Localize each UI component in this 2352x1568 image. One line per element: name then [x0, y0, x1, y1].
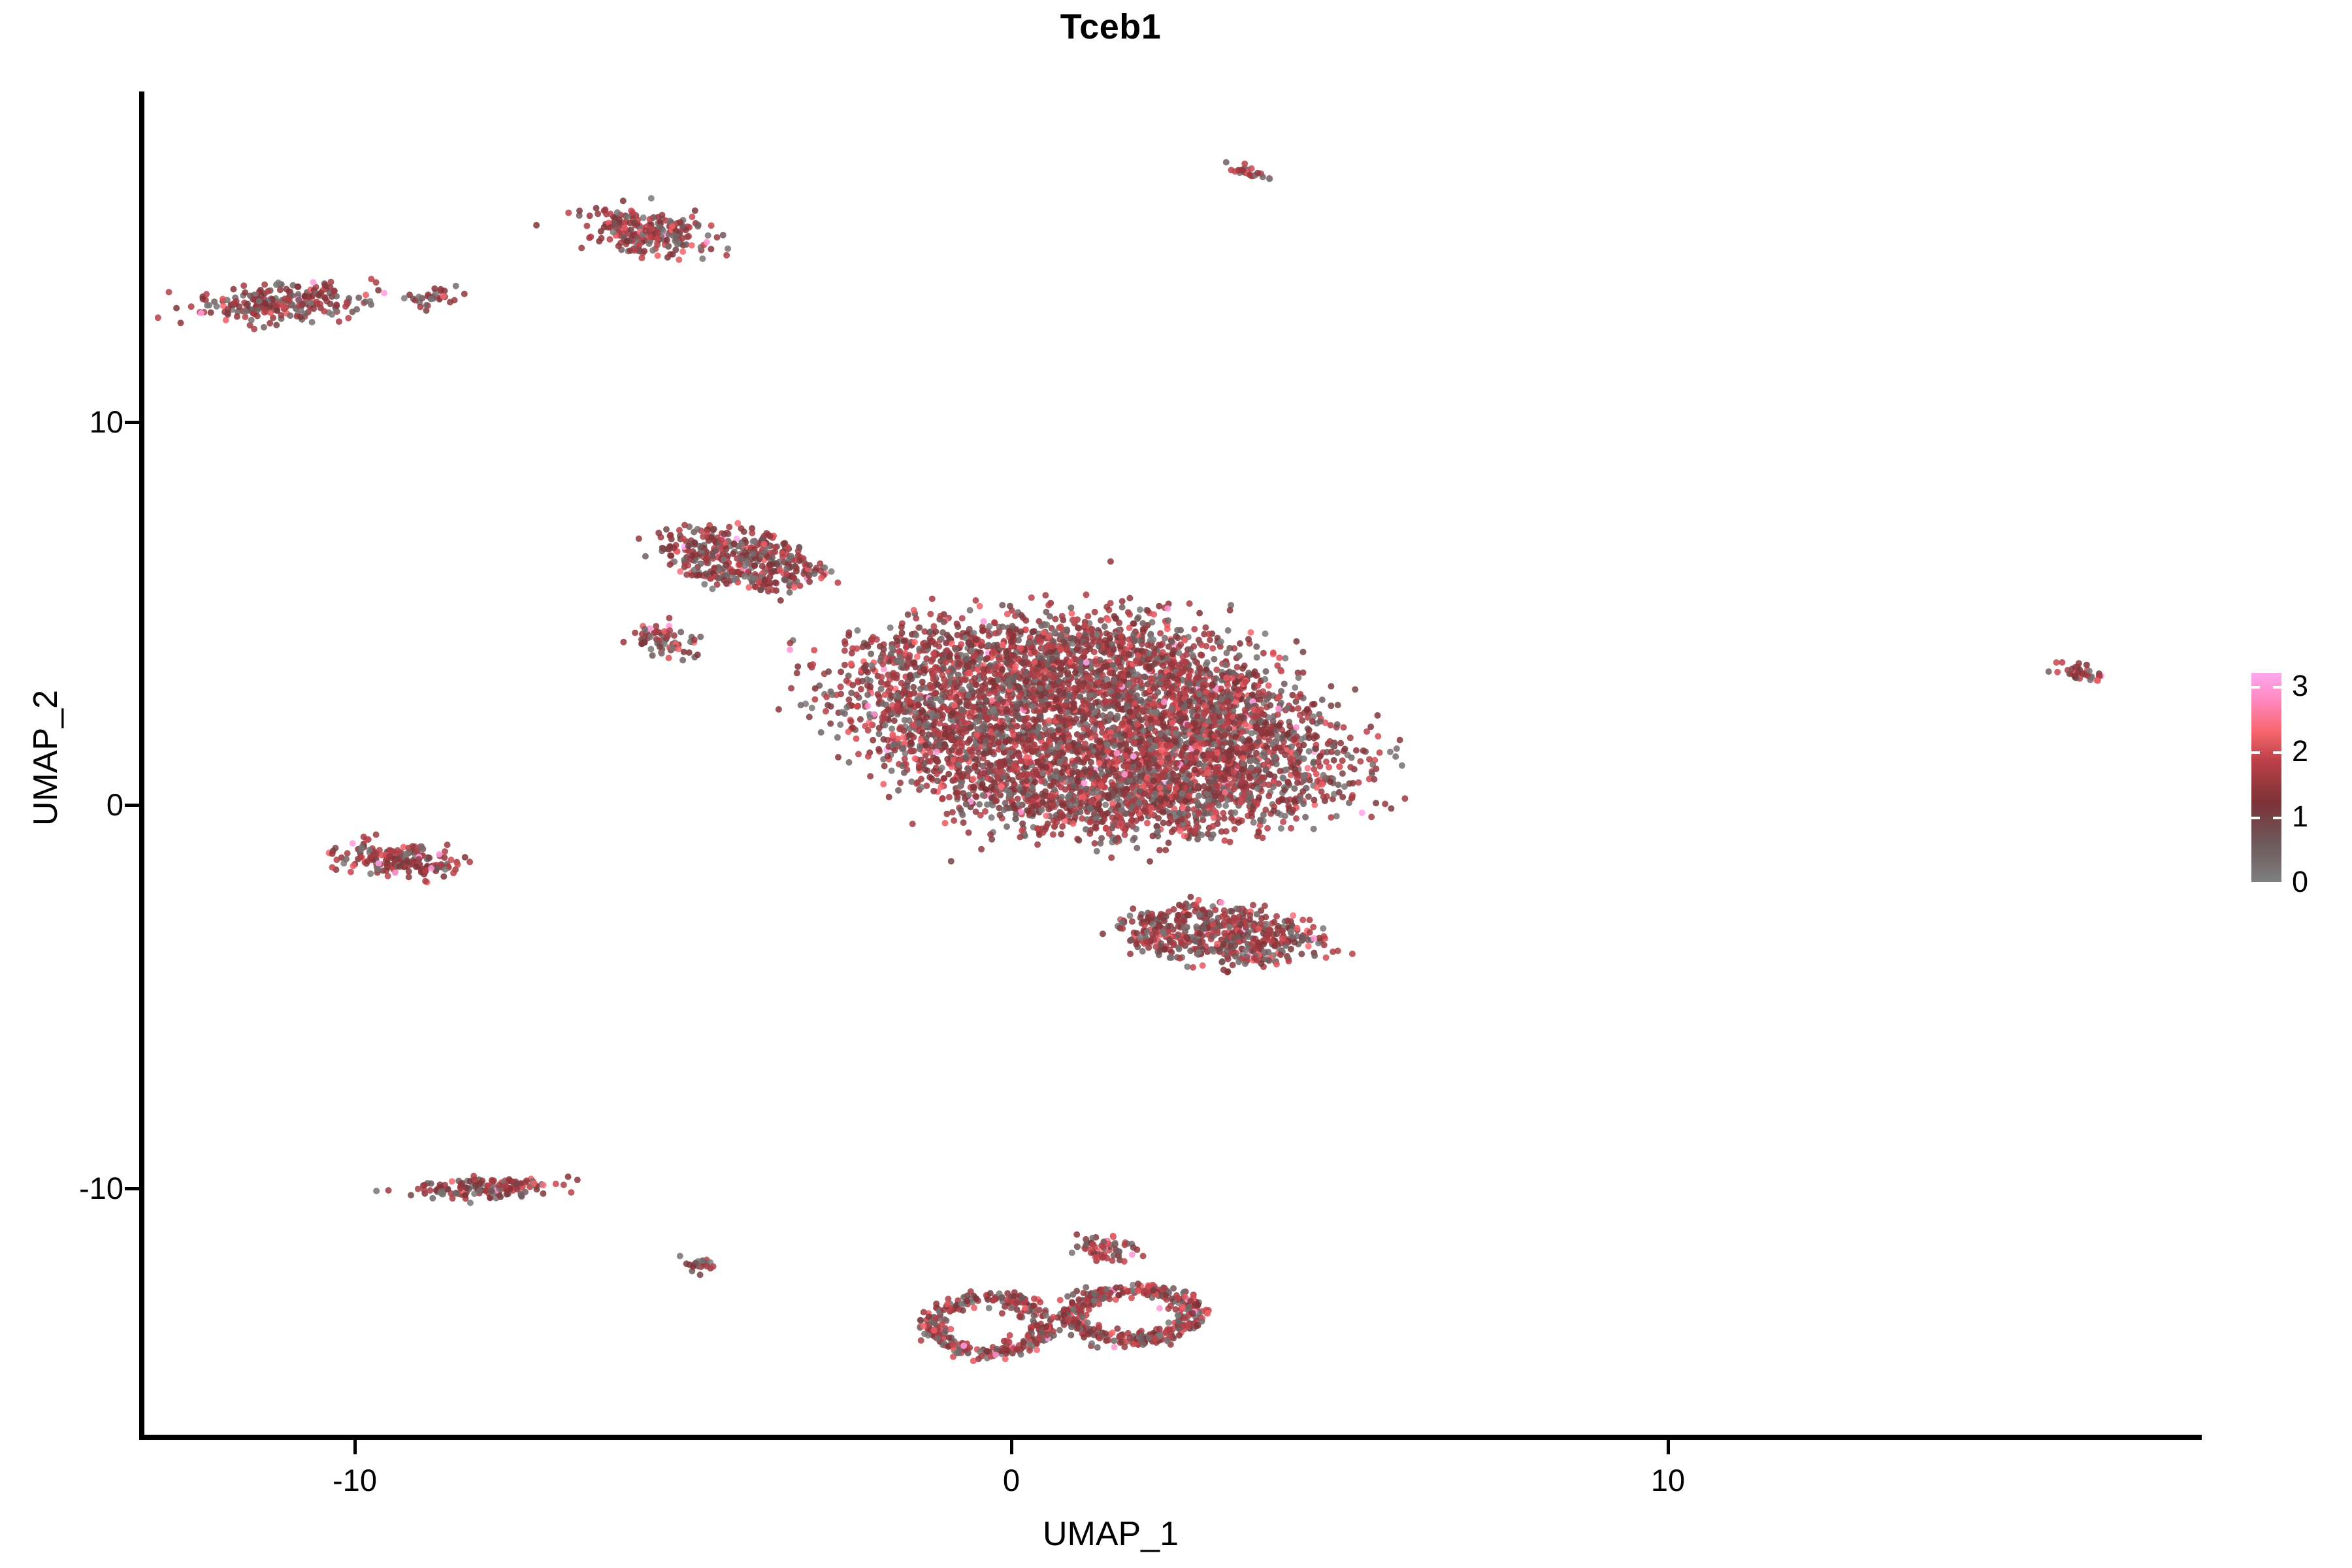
- scatter-point: [1205, 770, 1211, 776]
- scatter-point: [1002, 738, 1009, 745]
- scatter-point: [302, 310, 308, 317]
- scatter-point: [957, 661, 964, 668]
- scatter-point: [892, 747, 898, 753]
- scatter-point: [845, 696, 852, 703]
- scatter-point: [997, 811, 1004, 818]
- scatter-point: [242, 314, 248, 320]
- scatter-point: [1377, 749, 1383, 756]
- scatter-point: [870, 737, 876, 743]
- scatter-point: [1075, 837, 1082, 843]
- scatter-point: [973, 794, 979, 800]
- scatter-point: [1179, 804, 1186, 811]
- scatter-point: [788, 685, 794, 692]
- scatter-point: [878, 674, 885, 680]
- scatter-point: [1091, 638, 1098, 645]
- scatter-point: [295, 284, 301, 290]
- plot-panel: [144, 91, 2202, 1439]
- scatter-point: [1373, 800, 1379, 806]
- scatter-point: [1194, 674, 1200, 681]
- scatter-point: [1119, 604, 1126, 611]
- scatter-point: [811, 647, 817, 653]
- scatter-point: [1154, 737, 1161, 743]
- scatter-point: [1274, 662, 1281, 669]
- scatter-point: [1037, 685, 1043, 692]
- scatter-point: [1096, 760, 1103, 766]
- scatter-point: [1100, 672, 1106, 679]
- scatter-point: [1083, 786, 1089, 792]
- scatter-point: [299, 301, 306, 307]
- scatter-point: [208, 309, 214, 316]
- scatter-point: [891, 717, 898, 724]
- scatter-point: [973, 597, 979, 604]
- scatter-point: [897, 779, 904, 786]
- scatter-point: [1209, 683, 1215, 689]
- scatter-point: [864, 692, 871, 698]
- scatter-point: [1264, 825, 1271, 832]
- scatter-point: [858, 686, 864, 693]
- scatter-point: [966, 713, 973, 720]
- scatter-point: [972, 675, 978, 681]
- scatter-point: [1328, 749, 1335, 755]
- scatter-point: [976, 694, 983, 700]
- scatter-point: [885, 681, 891, 687]
- scatter-point: [428, 296, 434, 302]
- scatter-point: [899, 630, 906, 636]
- scatter-point: [1266, 781, 1272, 788]
- scatter-point: [956, 783, 963, 790]
- scatter-point: [1257, 817, 1264, 823]
- scatter-point: [1081, 794, 1087, 800]
- scatter-point: [776, 706, 782, 713]
- scatter-point: [966, 829, 972, 836]
- scatter-point: [1275, 711, 1281, 718]
- scatter-point: [1262, 676, 1268, 683]
- scatter-point: [1357, 758, 1364, 764]
- scatter-point: [1075, 625, 1082, 632]
- scatter-point: [994, 723, 1000, 730]
- scatter-point: [223, 317, 229, 323]
- scatter-point: [178, 319, 184, 326]
- scatter-point: [692, 207, 698, 214]
- scatter-point: [1060, 765, 1067, 772]
- scatter-point: [1009, 777, 1016, 783]
- scatter-point: [286, 297, 293, 303]
- scatter-point: [1205, 630, 1212, 637]
- scatter-point: [809, 661, 816, 668]
- scatter-point: [1106, 830, 1113, 837]
- scatter-point: [1281, 787, 1288, 793]
- scatter-point: [986, 632, 992, 639]
- scatter-point: [917, 686, 924, 693]
- scatter-point: [965, 670, 972, 676]
- scatter-point: [1064, 627, 1070, 633]
- scatter-point: [1056, 688, 1062, 694]
- scatter-point: [867, 773, 874, 779]
- scatter-point: [909, 821, 916, 827]
- scatter-point: [198, 310, 204, 316]
- scatter-point: [461, 291, 468, 297]
- scatter-point: [1069, 610, 1075, 617]
- scatter-point: [1281, 681, 1288, 687]
- scatter-point: [1232, 734, 1239, 740]
- scatter-point: [879, 714, 886, 721]
- scatter-point: [1085, 613, 1091, 619]
- scatter-point: [1215, 802, 1222, 809]
- scatter-point: [1004, 823, 1010, 830]
- scatter-point: [1015, 796, 1021, 802]
- scatter-point: [941, 776, 947, 782]
- scatter-points-layer: [144, 91, 2202, 1439]
- scatter-point: [1019, 821, 1026, 827]
- scatter-point: [204, 302, 210, 309]
- scatter-point: [607, 210, 613, 217]
- scatter-point: [938, 613, 944, 619]
- scatter-point: [1305, 793, 1312, 800]
- scatter-point: [321, 308, 327, 315]
- scatter-point: [1196, 734, 1203, 741]
- scatter-point: [1226, 668, 1233, 675]
- scatter-point: [990, 678, 996, 685]
- scatter-point: [1059, 823, 1066, 830]
- scatter-point: [1173, 785, 1179, 792]
- scatter-point: [825, 668, 832, 675]
- scatter-point: [273, 322, 280, 329]
- scatter-point: [1073, 757, 1079, 764]
- scatter-point: [975, 666, 981, 673]
- scatter-point: [1392, 753, 1399, 760]
- scatter-point: [1267, 772, 1273, 778]
- scatter-point: [1102, 802, 1109, 808]
- scatter-point: [725, 246, 731, 252]
- scatter-point: [606, 236, 613, 242]
- scatter-point: [970, 776, 977, 782]
- scatter-point: [981, 618, 987, 625]
- scatter-point: [913, 632, 919, 638]
- scatter-point: [855, 627, 861, 634]
- scatter-point: [1057, 646, 1064, 653]
- scatter-point: [1043, 813, 1049, 819]
- scatter-point: [868, 662, 875, 669]
- scatter-point: [310, 279, 316, 286]
- scatter-point: [689, 214, 695, 220]
- scatter-point: [905, 612, 911, 618]
- scatter-point: [1300, 800, 1307, 807]
- scatter-point: [929, 710, 936, 717]
- scatter-point: [845, 728, 852, 735]
- page-title: Tceb1: [0, 7, 2221, 47]
- scatter-point: [1317, 753, 1324, 759]
- scatter-point: [1137, 606, 1143, 613]
- scatter-point: [967, 607, 973, 613]
- scatter-point: [811, 696, 818, 703]
- scatter-point: [948, 858, 955, 864]
- scatter-point: [1239, 728, 1246, 735]
- scatter-point: [1309, 718, 1316, 725]
- scatter-point: [314, 299, 320, 305]
- scatter-point: [647, 234, 654, 240]
- scatter-point: [309, 319, 316, 325]
- scatter-point: [896, 648, 902, 655]
- scatter-point: [244, 301, 251, 307]
- scatter-point: [1326, 764, 1332, 770]
- scatter-point: [328, 279, 335, 286]
- scatter-point: [990, 649, 997, 655]
- scatter-point: [1260, 688, 1266, 694]
- scatter-point: [683, 241, 689, 248]
- scatter-point: [1169, 651, 1176, 657]
- scatter-point: [1311, 701, 1318, 708]
- scatter-point: [1132, 700, 1138, 707]
- scatter-point: [1387, 749, 1394, 755]
- scatter-point: [1159, 771, 1166, 777]
- scatter-point: [1210, 823, 1217, 830]
- scatter-point: [1128, 818, 1134, 825]
- scatter-point: [1066, 680, 1072, 687]
- scatter-point: [1196, 691, 1203, 697]
- scatter-point: [894, 638, 900, 644]
- scatter-point: [1000, 623, 1006, 630]
- scatter-point: [1151, 611, 1157, 617]
- scatter-point: [1234, 664, 1241, 670]
- scatter-point: [1119, 721, 1125, 728]
- scatter-point: [960, 790, 966, 796]
- scatter-point: [1260, 650, 1267, 657]
- scatter-point: [949, 736, 955, 742]
- scatter-point: [1301, 755, 1307, 762]
- scatter-point: [1004, 716, 1011, 723]
- scatter-point: [1211, 656, 1217, 662]
- scatter-point: [231, 301, 237, 307]
- scatter-point: [1108, 855, 1115, 861]
- scatter-point: [1058, 794, 1065, 800]
- scatter-point: [1248, 764, 1254, 771]
- scatter-point: [889, 768, 895, 774]
- scatter-point: [1210, 832, 1217, 838]
- scatter-point: [1256, 794, 1262, 801]
- scatter-point: [1207, 637, 1213, 644]
- scatter-point: [714, 234, 721, 240]
- scatter-point: [812, 685, 819, 692]
- scatter-point: [277, 287, 284, 293]
- scatter-point: [1280, 819, 1286, 825]
- scatter-point: [848, 718, 855, 725]
- scatter-point: [614, 209, 621, 216]
- scatter-point: [621, 225, 628, 231]
- scatter-point: [166, 289, 172, 295]
- scatter-point: [1337, 740, 1344, 747]
- scatter-point: [267, 310, 274, 316]
- scatter-point: [1266, 176, 1273, 182]
- scatter-point: [203, 291, 210, 297]
- scatter-point: [945, 771, 952, 777]
- scatter-point: [381, 290, 387, 297]
- scatter-point: [843, 704, 850, 711]
- scatter-point: [598, 235, 605, 242]
- scatter-point: [1154, 828, 1161, 834]
- scatter-point: [1212, 808, 1218, 815]
- scatter-point: [1083, 826, 1089, 832]
- scatter-point: [1069, 635, 1075, 642]
- scatter-point: [1260, 834, 1266, 841]
- scatter-point: [416, 294, 422, 301]
- scatter-point: [1034, 825, 1041, 832]
- scatter-point: [999, 666, 1005, 672]
- scatter-point: [1119, 598, 1126, 604]
- scatter-point: [986, 623, 992, 630]
- scatter-point: [256, 298, 263, 304]
- scatter-point: [1047, 613, 1053, 620]
- scatter-point: [891, 741, 898, 747]
- scatter-point: [987, 831, 994, 838]
- scatter-point: [838, 668, 844, 675]
- scatter-point: [1242, 679, 1249, 685]
- scatter-point: [1016, 732, 1022, 738]
- scatter-point: [1137, 637, 1143, 644]
- scatter-point: [705, 233, 711, 239]
- scatter-point: [1088, 799, 1095, 806]
- scatter-point: [1270, 649, 1277, 656]
- scatter-point: [649, 247, 656, 253]
- scatter-point: [1397, 737, 1403, 743]
- scatter-point: [1232, 826, 1238, 832]
- scatter-point: [262, 300, 269, 306]
- scatter-point: [583, 223, 590, 229]
- scatter-point: [1241, 161, 1248, 167]
- scatter-point: [346, 295, 352, 302]
- scatter-point: [355, 295, 362, 301]
- scatter-point: [1057, 740, 1064, 746]
- scatter-point: [1080, 698, 1086, 704]
- scatter-point: [1081, 780, 1088, 787]
- scatter-point: [627, 220, 633, 227]
- scatter-point: [1335, 702, 1341, 708]
- scatter-point: [667, 218, 674, 224]
- scatter-point: [261, 282, 268, 288]
- scatter-point: [999, 602, 1005, 608]
- scatter-point: [310, 306, 317, 312]
- scatter-point: [931, 690, 938, 696]
- scatter-point: [1341, 724, 1347, 730]
- scatter-point: [1346, 780, 1352, 787]
- scatter-point: [1254, 654, 1260, 661]
- scatter-point: [655, 252, 661, 259]
- scatter-point: [1299, 717, 1305, 724]
- scatter-point: [155, 314, 161, 321]
- scatter-point: [1017, 834, 1023, 840]
- scatter-point: [578, 245, 585, 252]
- scatter-point: [641, 248, 647, 254]
- scatter-point: [1254, 170, 1261, 176]
- scatter-point: [886, 794, 892, 800]
- scatter-point: [1263, 668, 1269, 675]
- scatter-point: [1291, 797, 1298, 804]
- scatter-point: [834, 734, 841, 741]
- scatter-point: [248, 317, 255, 323]
- scatter-point: [1114, 715, 1120, 721]
- scatter-point: [818, 729, 825, 736]
- scatter-point: [1279, 774, 1286, 781]
- scatter-point: [1251, 714, 1258, 721]
- scatter-point: [857, 716, 864, 723]
- scatter-point: [1262, 767, 1269, 774]
- scatter-point: [1368, 813, 1375, 820]
- scatter-point: [565, 210, 572, 216]
- scatter-point: [1030, 687, 1037, 693]
- scatter-point: [1191, 626, 1198, 632]
- scatter-point: [287, 312, 293, 319]
- scatter-point: [1048, 745, 1054, 752]
- scatter-point: [927, 636, 934, 642]
- scatter-point: [423, 302, 430, 308]
- scatter-point: [595, 210, 601, 217]
- scatter-point: [1356, 779, 1362, 786]
- scatter-point: [576, 208, 583, 214]
- scatter-point: [973, 719, 979, 725]
- scatter-point: [990, 708, 996, 714]
- scatter-point: [188, 303, 195, 310]
- scatter-point: [234, 314, 240, 320]
- scatter-point: [1157, 630, 1164, 636]
- scatter-point: [794, 663, 801, 670]
- scatter-point: [853, 691, 860, 698]
- scatter-point: [1253, 644, 1260, 650]
- scatter-point: [1276, 655, 1282, 661]
- scatter-point: [695, 221, 702, 228]
- scatter-point: [966, 683, 973, 689]
- scatter-point: [946, 794, 953, 800]
- scatter-point: [1247, 629, 1254, 636]
- scatter-point: [1145, 642, 1151, 648]
- scatter-point: [1335, 781, 1341, 788]
- scatter-point: [1348, 755, 1355, 761]
- scatter-point: [987, 762, 994, 768]
- scatter-point: [1152, 790, 1159, 796]
- scatter-point: [1382, 801, 1388, 808]
- scatter-point: [327, 301, 334, 307]
- scatter-point: [1105, 617, 1111, 623]
- scatter-point: [1388, 806, 1394, 812]
- scatter-point: [1095, 679, 1102, 685]
- scatter-point: [827, 721, 834, 727]
- scatter-point: [1239, 736, 1245, 742]
- scatter-point: [1007, 603, 1013, 610]
- scatter-point: [1295, 705, 1301, 711]
- scatter-point: [587, 234, 594, 240]
- scatter-point: [1249, 165, 1255, 172]
- scatter-point: [1039, 807, 1045, 813]
- scatter-point: [823, 694, 830, 700]
- scatter-point: [1315, 759, 1322, 765]
- scatter-point: [302, 293, 308, 300]
- scatter-point: [708, 246, 714, 252]
- scatter-point: [889, 725, 895, 732]
- scatter-point: [1133, 708, 1139, 715]
- scatter-point: [1115, 706, 1122, 712]
- scatter-point: [1300, 670, 1307, 676]
- scatter-point: [1152, 709, 1158, 715]
- scatter-point: [431, 286, 438, 292]
- scatter-point: [447, 299, 453, 306]
- scatter-point: [907, 698, 913, 705]
- scatter-point: [841, 647, 848, 654]
- scatter-point: [1223, 159, 1230, 165]
- scatter-point: [1004, 611, 1011, 617]
- scatter-point: [685, 233, 692, 240]
- scatter-point: [1139, 746, 1146, 753]
- scatter-point: [261, 309, 268, 316]
- scatter-point: [1093, 825, 1100, 832]
- scatter-point: [867, 714, 874, 721]
